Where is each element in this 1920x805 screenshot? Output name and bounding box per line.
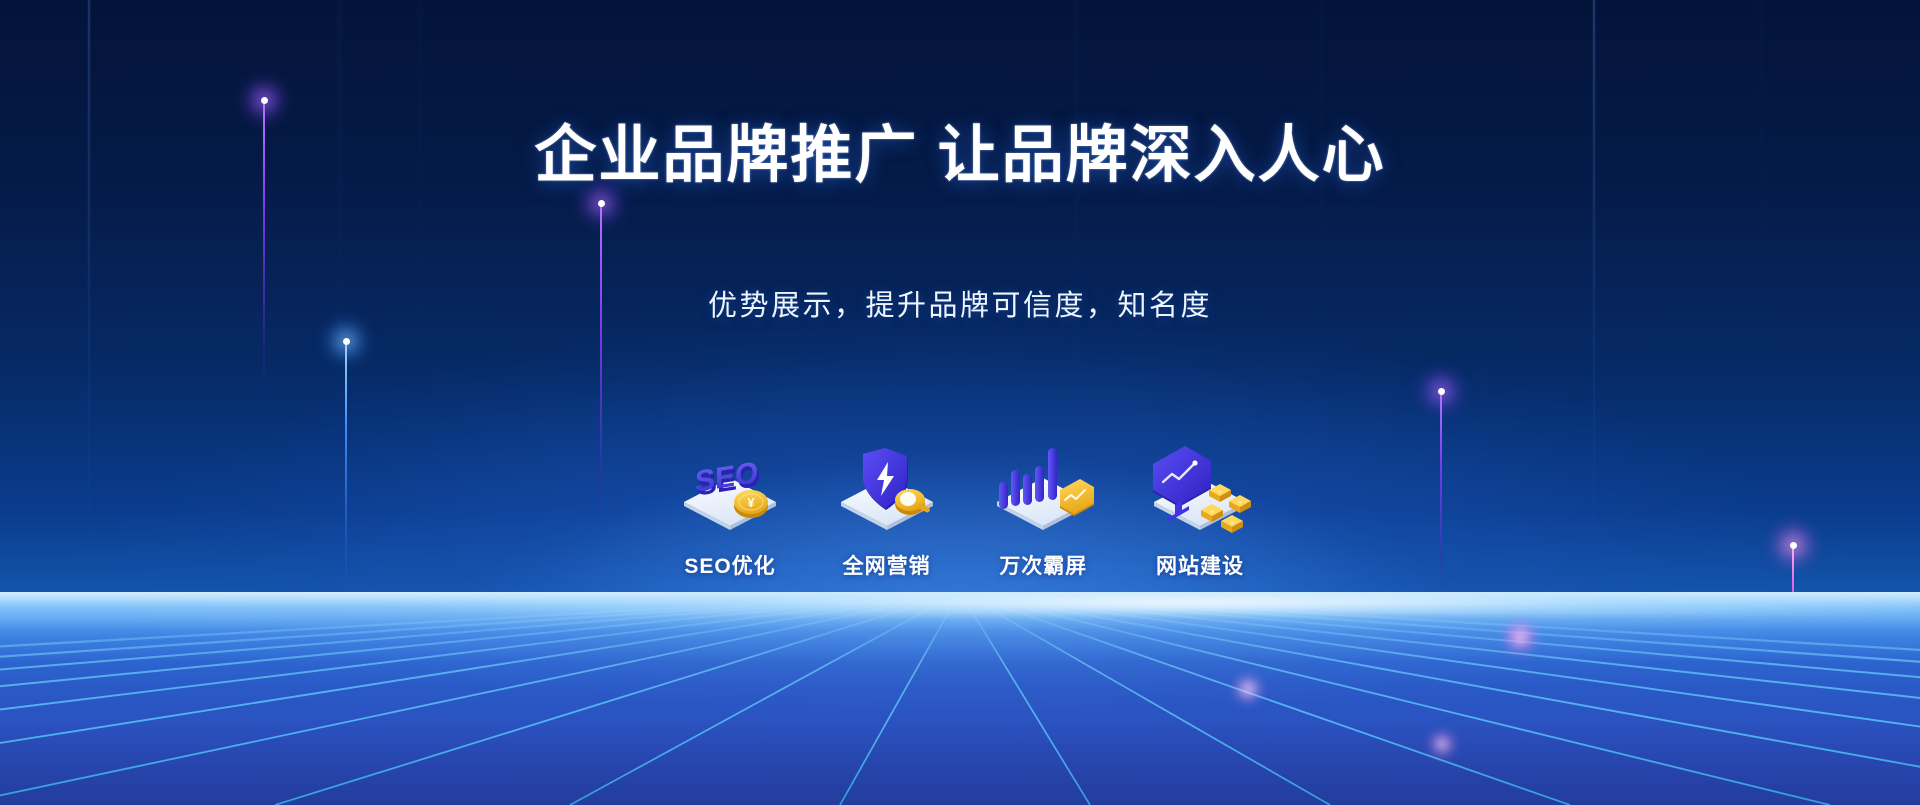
feature-item-marketing[interactable]: 全网营销 [817,440,957,580]
banner-content: 企业品牌推广 让品牌深入人心 优势展示，提升品牌可信度，知名度 [0,0,1920,805]
svg-text:+: + [1238,500,1242,507]
svg-text:+: + [1230,520,1234,527]
svg-text:+: + [1218,489,1222,496]
svg-text:¥: ¥ [747,495,755,510]
page-title: 企业品牌推广 让品牌深入人心 [0,123,1920,190]
feature-item-website-build[interactable]: + + + [1130,440,1270,580]
page-subtitle: 优势展示，提升品牌可信度，知名度 [0,282,1920,324]
shield-bolt-search-isometric-icon [822,440,952,540]
feature-item-seo[interactable]: SEO SEO ¥ SEO优化 [660,440,800,580]
feature-label: 万次霸屏 [999,550,1087,580]
feature-label: SEO优化 [684,550,775,580]
feature-list: SEO SEO ¥ SEO优化 [660,440,1270,580]
seo-coin-isometric-icon: SEO SEO ¥ [665,440,795,540]
feature-label: 全网营销 [843,550,931,580]
svg-text:+: + [1210,509,1214,516]
bar-chart-card-isometric-icon [978,440,1108,540]
brand-promotion-banner: 企业品牌推广 让品牌深入人心 优势展示，提升品牌可信度，知名度 [0,0,1920,805]
feature-item-screen-domination[interactable]: 万次霸屏 [973,440,1113,580]
feature-label: 网站建设 [1156,550,1244,580]
monitor-blocks-isometric-icon: + + + [1135,440,1265,540]
